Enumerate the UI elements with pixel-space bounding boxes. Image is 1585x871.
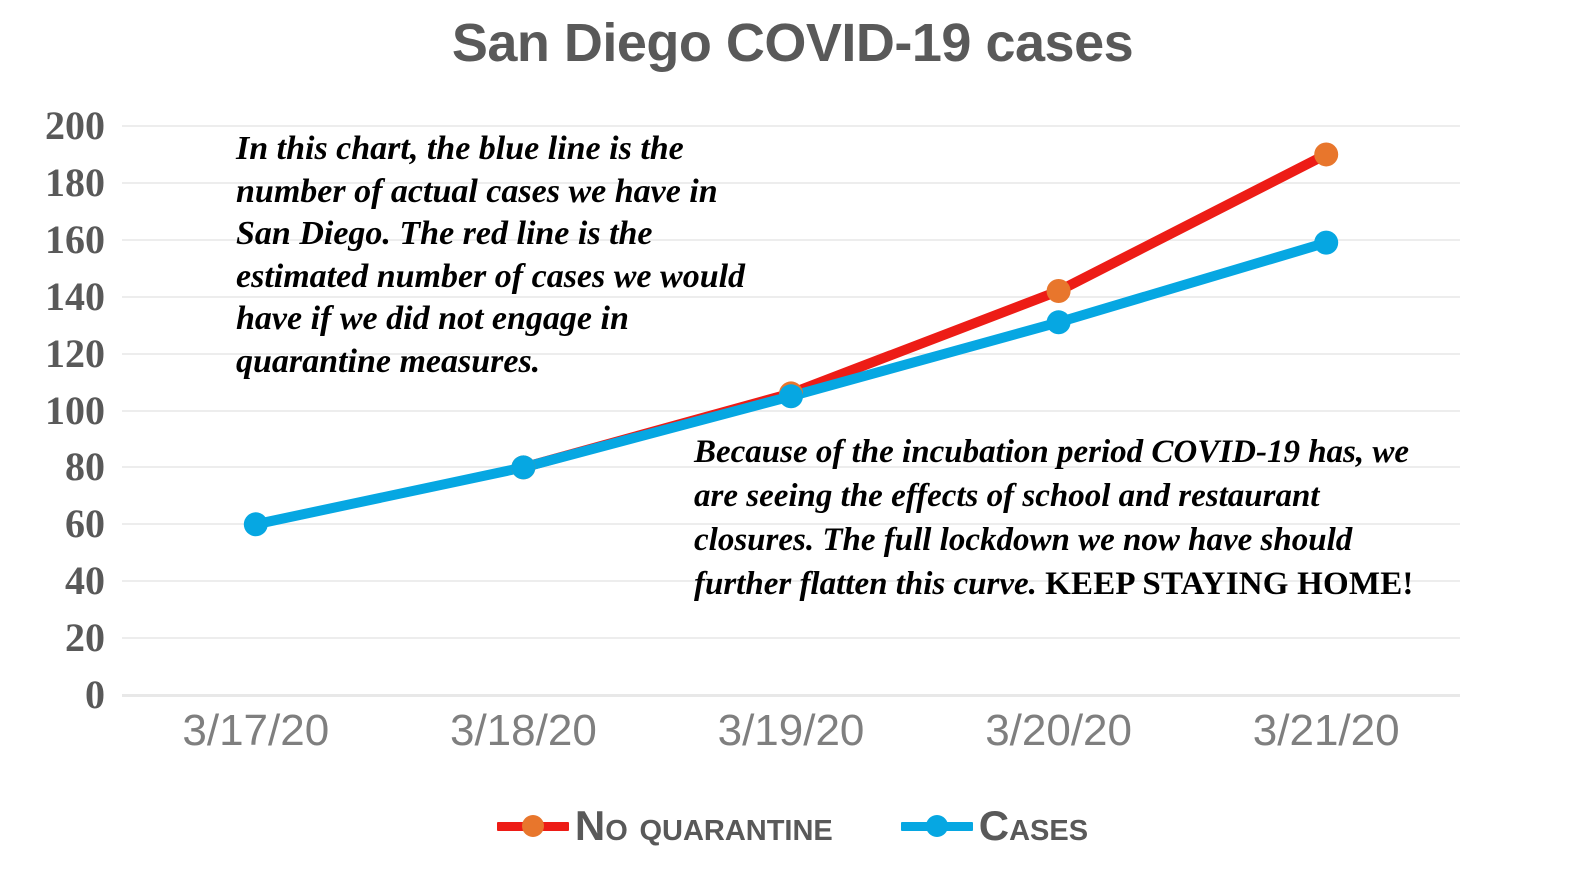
chart-legend: No quarantineCases: [0, 795, 1585, 857]
data-point-marker: [1314, 142, 1338, 166]
data-point-marker: [1047, 279, 1071, 303]
y-axis-tick-label: 200: [0, 106, 105, 146]
y-axis-tick-label: 100: [0, 391, 105, 431]
y-axis-tick-label: 140: [0, 277, 105, 317]
legend-label: No quarantine: [575, 802, 833, 850]
annotation-right: Because of the incubation period COVID-1…: [694, 430, 1424, 606]
y-axis: 200180160140120100806040200: [0, 126, 105, 695]
legend-item[interactable]: Cases: [901, 802, 1088, 850]
legend-marker-icon: [926, 815, 948, 837]
legend-swatch-icon: [497, 813, 569, 839]
data-point-marker: [779, 384, 803, 408]
x-axis: 3/17/203/18/203/19/203/20/203/21/20: [122, 706, 1460, 776]
y-axis-tick-label: 180: [0, 163, 105, 203]
legend-marker-icon: [522, 815, 544, 837]
data-point-marker: [511, 455, 535, 479]
y-axis-tick-label: 60: [0, 504, 105, 544]
x-axis-tick-label: 3/18/20: [373, 706, 673, 756]
y-axis-tick-label: 20: [0, 618, 105, 658]
legend-item[interactable]: No quarantine: [497, 802, 833, 850]
y-axis-tick-label: 160: [0, 220, 105, 260]
y-axis-tick-label: 80: [0, 447, 105, 487]
data-point-marker: [1047, 310, 1071, 334]
x-axis-tick-label: 3/20/20: [909, 706, 1209, 756]
legend-swatch-icon: [901, 813, 973, 839]
y-axis-tick-label: 120: [0, 334, 105, 374]
data-point-marker: [1314, 231, 1338, 255]
x-axis-tick-label: 3/21/20: [1176, 706, 1476, 756]
x-axis-tick-label: 3/19/20: [641, 706, 941, 756]
data-point-marker: [244, 512, 268, 536]
y-axis-tick-label: 40: [0, 561, 105, 601]
page-title: San Diego COVID-19 cases: [0, 12, 1585, 74]
y-axis-tick-label: 0: [0, 675, 105, 715]
legend-label: Cases: [979, 802, 1088, 850]
annotation-left: In this chart, the blue line is the numb…: [236, 128, 746, 383]
annotation-right-shout: KEEP STAYING HOME!: [1045, 566, 1414, 602]
x-axis-tick-label: 3/17/20: [106, 706, 406, 756]
